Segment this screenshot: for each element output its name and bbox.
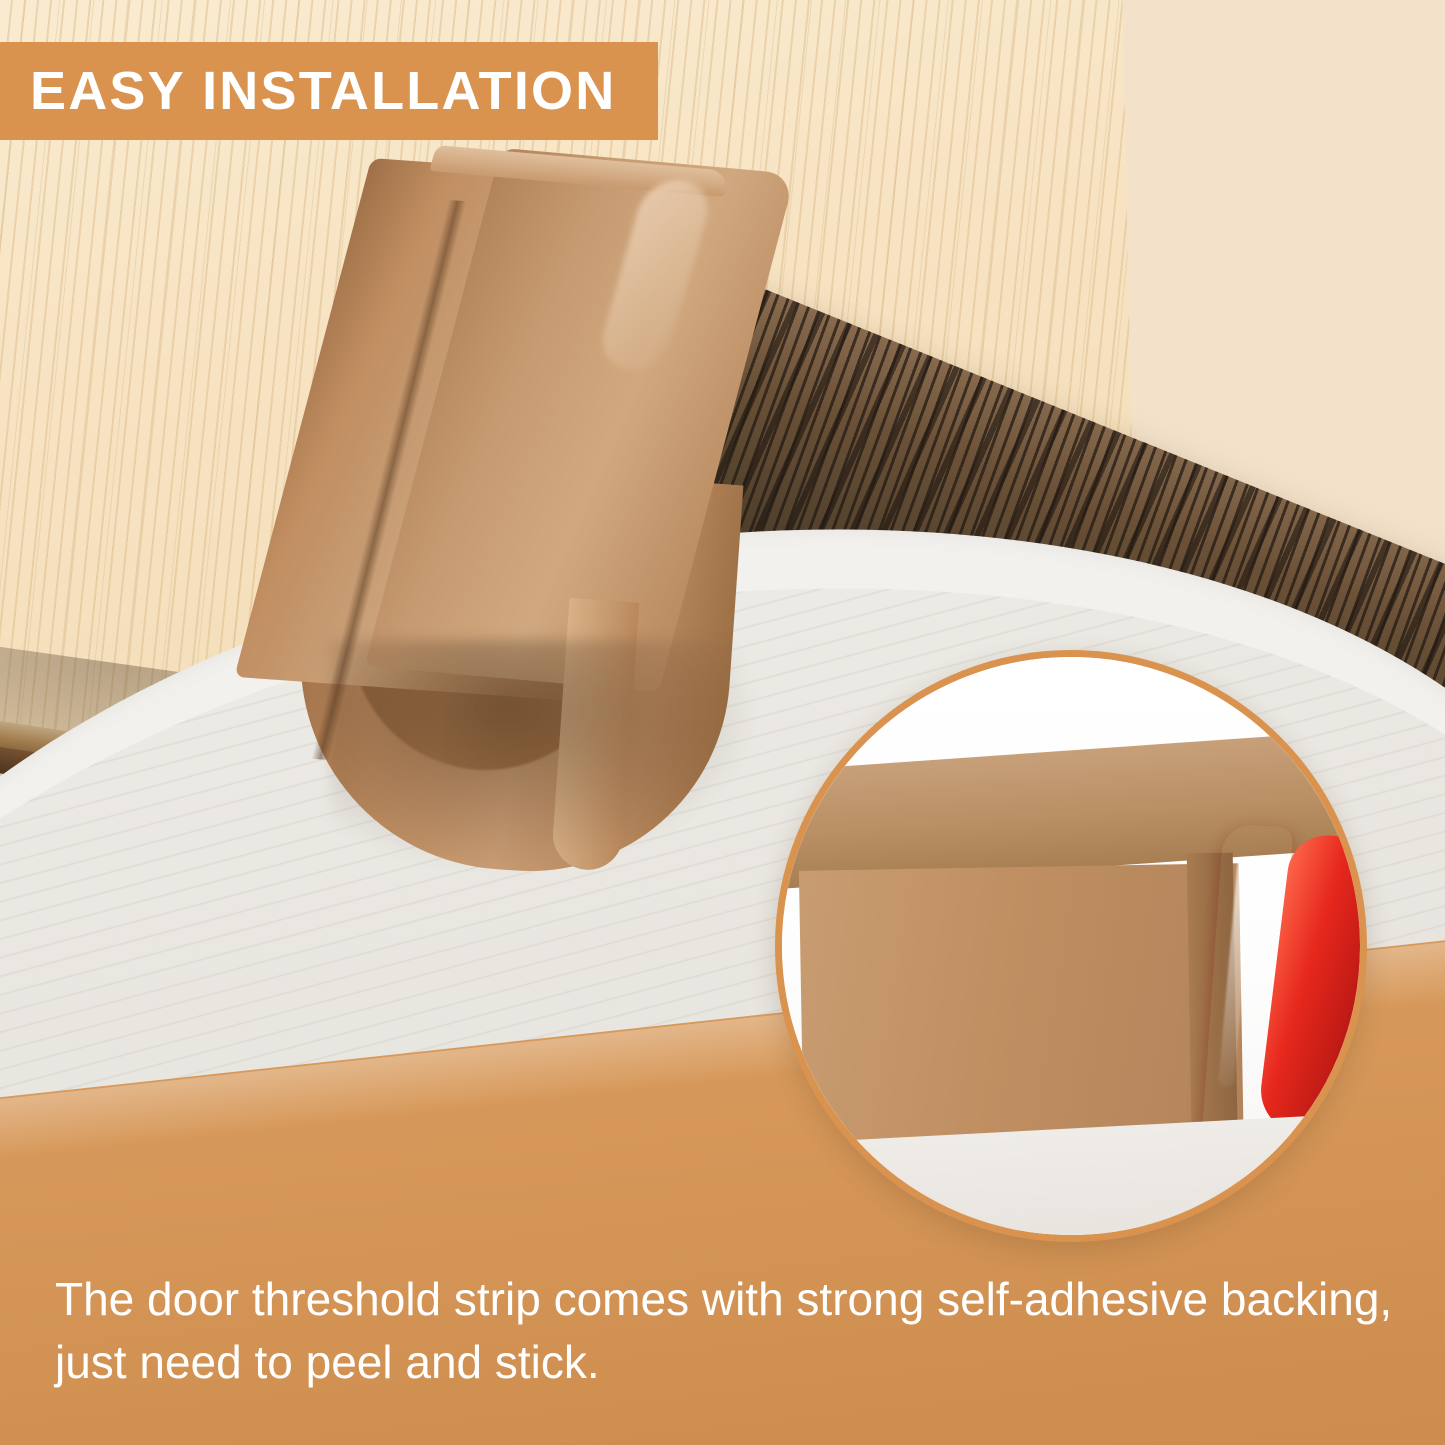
title-badge-label: EASY INSTALLATION <box>30 64 616 118</box>
product-poster: EASY INSTALLATION The door threshold str… <box>0 0 1445 1445</box>
title-badge: EASY INSTALLATION <box>0 42 658 140</box>
adhesive-backing-closeup-inset <box>775 650 1367 1242</box>
caption-text: The door threshold strip comes with stro… <box>55 1268 1400 1395</box>
threshold-strip-shadow <box>330 640 760 870</box>
